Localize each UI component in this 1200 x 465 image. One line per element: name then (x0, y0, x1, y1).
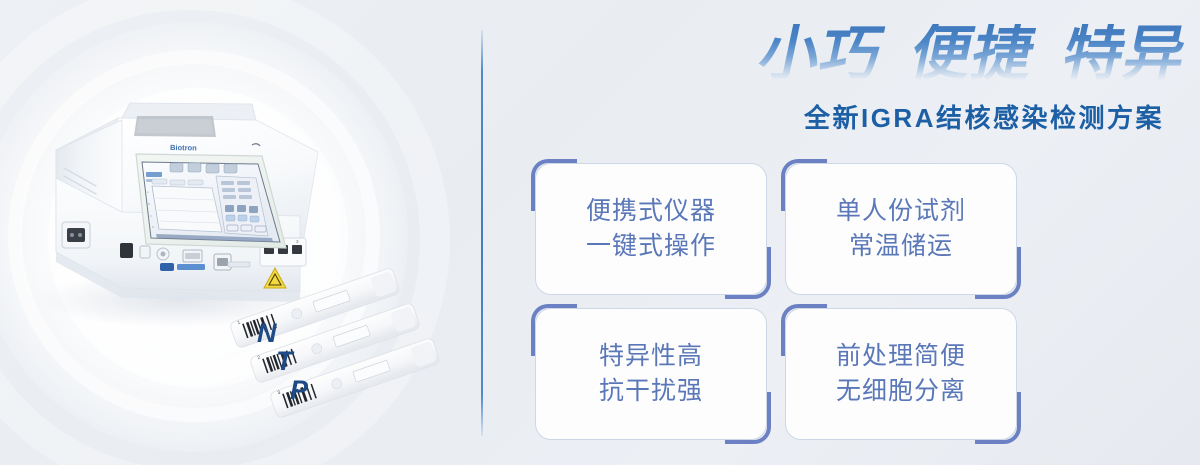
content-column: 小巧 便捷 特异 全新IGRA结核感染检测方案 便携式仪器 一键式操作 单人份试… (505, 0, 1200, 465)
power-socket (62, 222, 90, 248)
feature-line-1: 单人份试剂 (836, 194, 966, 230)
feature-line-2: 一键式操作 (586, 229, 716, 265)
instrument-brand-text: Biotron (170, 143, 197, 152)
svg-text:B: B (148, 202, 150, 206)
headline-word-1: 小巧 (754, 24, 889, 84)
feature-line-2: 无细胞分离 (836, 374, 966, 410)
screen-chart-panel: A B C D (147, 186, 222, 232)
instrument-illustration: 1 2 3 Biotron (0, 0, 470, 465)
feature-card-high-specificity[interactable]: 特异性高 抗干扰强 (535, 308, 767, 440)
instrument-svg: 1 2 3 Biotron (0, 0, 470, 465)
screen-tabs (152, 179, 203, 185)
card-slot (228, 262, 250, 267)
feature-card-single-dose-reagent[interactable]: 单人份试剂 常温储运 (785, 163, 1017, 295)
strip-letter-n: N (257, 318, 277, 349)
instrument-body: 1 2 3 Biotron (56, 103, 318, 302)
product-banner: 1 2 3 Biotron (0, 0, 1200, 465)
headline-word-3: 特异 (1058, 24, 1193, 84)
feature-line-2: 常温储运 (849, 229, 953, 265)
feature-card-simple-pretreatment[interactable]: 前处理简便 无细胞分离 (785, 308, 1017, 440)
strip-letter-t: T (276, 346, 293, 377)
svg-text:A: A (147, 190, 149, 194)
feature-line-1: 前处理简便 (836, 339, 966, 375)
feature-line-1: 特异性高 (599, 339, 703, 375)
feature-grid: 便携式仪器 一键式操作 单人份试剂 常温储运 特异性高 抗干扰强 前处理简便 无… (535, 163, 1175, 440)
headline: 小巧 便捷 特异 (531, 24, 1196, 96)
strip-letter-p: P (290, 375, 308, 406)
vertical-divider (481, 30, 483, 436)
headline-word-2: 便捷 (906, 24, 1041, 84)
subtitle: 全新IGRA结核感染检测方案 (804, 98, 1164, 135)
feature-line-1: 便携式仪器 (586, 194, 716, 230)
front-brand-logo (160, 263, 205, 271)
feature-line-2: 抗干扰强 (599, 374, 703, 410)
feature-card-portable-instrument[interactable]: 便携式仪器 一键式操作 (535, 163, 767, 295)
